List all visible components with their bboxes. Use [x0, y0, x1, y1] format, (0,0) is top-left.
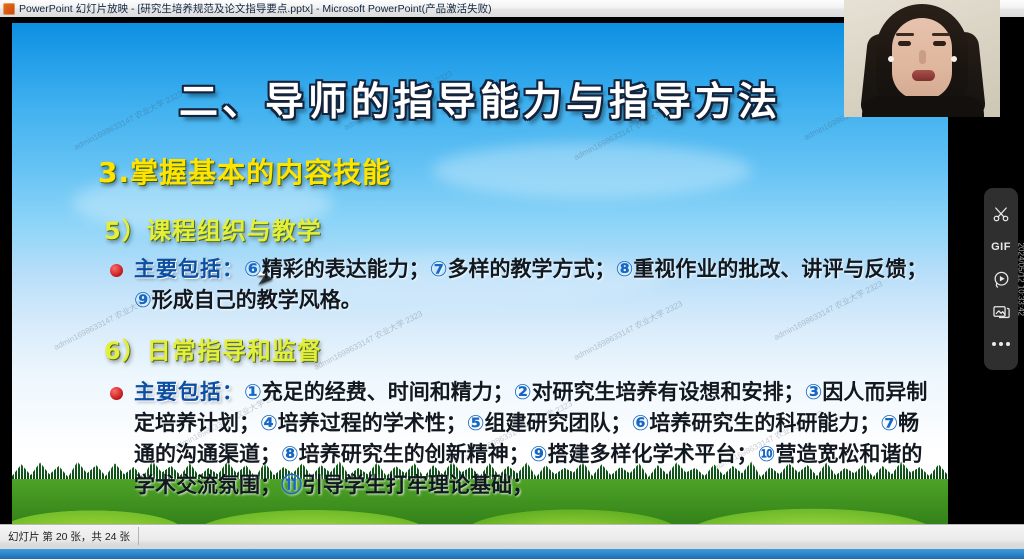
item-number: ② — [514, 380, 532, 404]
bullet-dot-icon — [110, 387, 123, 400]
screen: PowerPoint 幻灯片放映 - [研究生培养规范及论文指导要点.pptx]… — [0, 0, 1024, 559]
nose — [919, 50, 926, 64]
item-text: 对研究生培养有设想和安排； — [532, 380, 805, 404]
ellipsis-dots — [992, 342, 1010, 346]
cloud-decoration — [432, 143, 752, 198]
subsection-heading-6: 6）日常指导和监督 — [104, 331, 322, 366]
watermark: admin1698633147 农业大学 2323 — [312, 308, 424, 373]
eye — [898, 41, 911, 46]
item-text: 搭建多样化学术平台； — [548, 442, 758, 466]
recording-timestamp: 2024/05/12 10:33:42 — [1016, 243, 1024, 316]
item-number: ⑨ — [134, 288, 152, 312]
item-number: ⑧ — [616, 257, 634, 281]
item-number: ⑪ — [281, 473, 302, 497]
item-number: ⑩ — [758, 442, 776, 466]
more-icon[interactable] — [989, 332, 1013, 356]
taskbar[interactable] — [0, 549, 1024, 559]
powerpoint-icon — [3, 3, 15, 15]
statusbar: 幻灯片 第 20 张，共 24 张 — [0, 524, 1024, 559]
item-number: ⑦ — [880, 411, 898, 435]
earring — [951, 56, 957, 62]
item-text: 引导学生打牢理论基础； — [302, 473, 533, 497]
item-number: ⑧ — [281, 442, 299, 466]
item-number: ⑤ — [467, 411, 485, 435]
bullet-block-5: 主要包括：⑥精彩的表达能力；⑦多样的教学方式；⑧重视作业的批改、讲评与反馈；⑨形… — [110, 254, 940, 316]
item-number: ⑨ — [530, 442, 548, 466]
gif-icon[interactable]: GIF — [989, 235, 1013, 259]
item-number: ① — [244, 380, 262, 404]
item-number: ③ — [805, 380, 823, 404]
item-text: 精彩的表达能力； — [262, 257, 430, 281]
window-title: PowerPoint 幻灯片放映 - [研究生培养规范及论文指导要点.pptx]… — [19, 1, 492, 16]
item-text: 培养过程的学术性； — [278, 411, 467, 435]
screenshot-icon[interactable] — [989, 300, 1013, 324]
item-text: 充足的经费、时间和精力； — [262, 380, 514, 404]
eye — [933, 41, 946, 46]
slide-counter-cell: 幻灯片 第 20 张，共 24 张 — [0, 527, 139, 545]
bullet-lead: 主要包括： — [134, 380, 244, 404]
item-text: 重视作业的批改、讲评与反馈； — [633, 257, 927, 281]
slide-counter: 幻灯片 第 20 张，共 24 张 — [8, 529, 130, 544]
earring — [888, 56, 894, 62]
slide-title: 二、导师的指导能力与指导方法 — [12, 71, 948, 127]
item-text: 多样的教学方式； — [448, 257, 616, 281]
item-text: 培养研究生的创新精神； — [299, 442, 530, 466]
mouth — [912, 70, 935, 81]
recording-tool-rail: GIF — [984, 188, 1018, 370]
record-icon[interactable] — [989, 267, 1013, 291]
item-text: 形成自己的教学风格。 — [152, 288, 362, 312]
item-number: ⑦ — [430, 257, 448, 281]
bullet-lead: 主要包括： — [134, 257, 244, 281]
bullet-text-6: 主要包括：①充足的经费、时间和精力；②对研究生培养有设想和安排；③因人而异制定培… — [134, 377, 940, 501]
eyebrow — [896, 33, 914, 36]
item-text: 组建研究团队； — [485, 411, 632, 435]
scissors-icon[interactable] — [989, 202, 1013, 226]
webcam-thumbnail[interactable] — [844, 0, 1000, 117]
bullet-block-6: 主要包括：①充足的经费、时间和精力；②对研究生培养有设想和安排；③因人而异制定培… — [110, 377, 940, 501]
shoulders — [862, 96, 984, 117]
gif-label: GIF — [991, 241, 1011, 253]
item-number: ⑥ — [632, 411, 650, 435]
section-heading: 3.掌握基本的内容技能 — [98, 151, 391, 191]
subsection-heading-5: 5）课程组织与教学 — [104, 211, 322, 246]
bullet-dot-icon — [110, 264, 123, 277]
item-number: ④ — [260, 411, 278, 435]
bullet-text-5: 主要包括：⑥精彩的表达能力；⑦多样的教学方式；⑧重视作业的批改、讲评与反馈；⑨形… — [134, 254, 940, 316]
slide-canvas[interactable]: admin1698633147 农业大学 2323 admin169863314… — [12, 23, 948, 531]
eyebrow — [932, 33, 950, 36]
item-text: 培养研究生的科研能力； — [649, 411, 880, 435]
